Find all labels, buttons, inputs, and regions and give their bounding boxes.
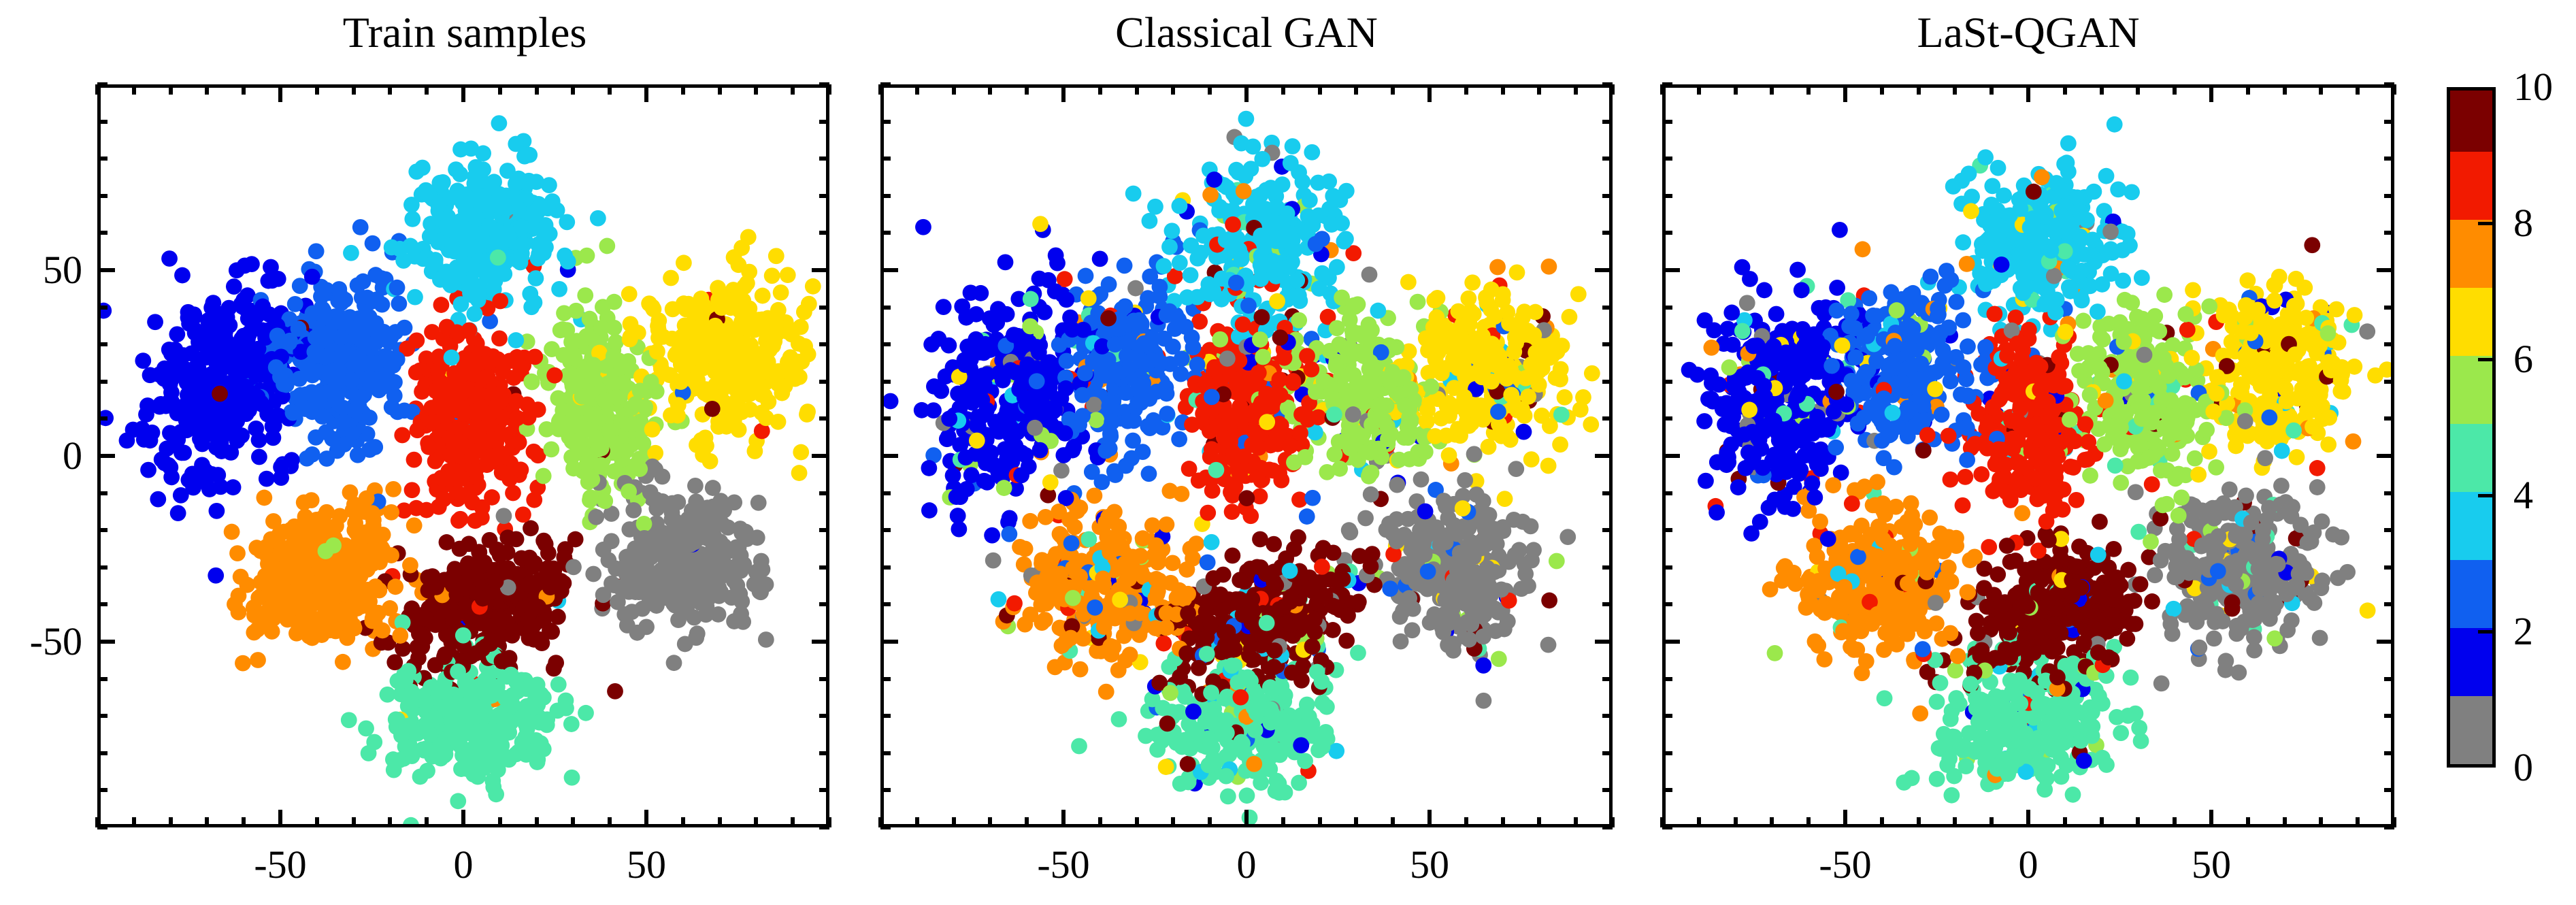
x-axis-tick [644,84,648,102]
y-axis-tick [97,454,115,458]
x-axis-tick [1281,817,1285,827]
x-axis-tick [1843,84,1847,102]
y-axis-tick [1662,194,1672,198]
y-axis-tick [1662,788,1672,792]
x-axis-tick [718,817,722,827]
y-axis-tick [812,454,829,458]
y-axis-tick [819,416,829,421]
x-axis-tick [1953,817,1957,827]
y-axis-tick [97,268,115,272]
x-axis-tick [1464,84,1468,95]
y-axis-tick-label: 0 [0,436,82,476]
y-axis-tick [2384,751,2394,755]
y-axis-tick [819,528,829,532]
x-axis-tick [1171,84,1175,95]
x-axis-tick-label: 50 [2192,845,2231,885]
y-axis-tick [1662,82,1672,86]
x-axis-tick [1208,84,1212,95]
x-axis-tick [242,817,246,827]
x-axis-tick [1135,84,1139,95]
y-axis-tick [97,491,108,495]
x-axis-tick [1061,810,1066,827]
y-axis-tick [1602,342,1613,346]
x-axis-tick [2026,810,2030,827]
plot-area-train-samples [97,84,829,827]
x-axis-tick-label: 0 [1237,845,1257,885]
x-axis-tick [571,84,575,95]
x-axis-tick [461,810,465,827]
colorbar-band-2 [2450,559,2492,628]
y-axis-tick [2384,602,2394,606]
x-axis-tick [1061,84,1066,102]
x-axis-tick [2209,84,2213,102]
colorbar: 0246810 [2447,87,2576,768]
y-axis-tick [97,528,108,532]
y-axis-tick [1602,157,1613,161]
x-axis-tick [1171,817,1175,827]
y-axis-tick [2384,825,2394,829]
colorbar-band-5 [2450,355,2492,424]
colorbar-tick-label: 8 [2513,203,2533,243]
y-axis-tick [97,306,108,310]
y-axis-tick-label: -50 [0,622,82,661]
y-axis-tick [880,825,891,829]
x-axis-tick [1208,817,1212,827]
y-axis-tick [97,416,108,421]
x-axis-tick [169,84,173,95]
x-axis-tick [535,84,539,95]
y-axis-tick [819,380,829,384]
y-axis-tick [2384,342,2394,346]
y-axis-tick [1662,342,1672,346]
panel-train-samples: Train samples -50050500-50 [97,0,832,905]
y-axis-tick [1602,714,1613,718]
y-axis-tick [1662,268,1680,272]
x-axis-tick [1697,84,1701,95]
x-axis-tick [535,817,539,827]
x-axis-tick [1391,817,1395,827]
x-axis-tick [388,817,392,827]
y-axis-tick [1662,602,1672,606]
x-axis-tick [952,817,956,827]
y-axis-tick [97,157,108,161]
y-axis-tick [97,82,108,86]
y-axis-tick [2377,268,2394,272]
x-axis-tick [952,84,956,95]
colorbar-tick [2478,222,2496,225]
y-axis-tick [97,788,108,792]
x-axis-tick [388,84,392,95]
x-axis-tick [915,84,919,95]
x-axis-tick [915,817,919,827]
y-axis-tick [1602,491,1613,495]
colorbar-band-6 [2450,287,2492,356]
x-axis-tick [315,817,319,827]
x-axis-tick-label: 50 [1410,845,1449,885]
y-axis-tick [880,528,891,532]
y-axis-tick [2384,528,2394,532]
x-axis-tick [169,817,173,827]
x-axis-tick [1574,84,1578,95]
scatter-points-classical-gan [884,88,1609,824]
y-axis-tick [1602,565,1613,570]
y-axis-tick [880,416,891,421]
y-axis-tick [2384,157,2394,161]
x-axis-tick [1025,817,1029,827]
x-axis-tick [2100,84,2104,95]
y-axis-tick [2384,788,2394,792]
x-axis-tick [1098,84,1102,95]
x-axis-tick [1464,817,1468,827]
y-axis-tick [1662,528,1672,532]
x-axis-tick [425,817,429,827]
y-axis-tick [880,82,891,86]
y-axis-tick [1602,306,1613,310]
x-axis-tick [1391,84,1395,95]
x-axis-tick [242,84,246,95]
y-axis-tick [97,565,108,570]
y-axis-tick [97,194,108,198]
y-axis-tick [1602,82,1613,86]
y-axis-tick [819,306,829,310]
x-axis-tick [1917,817,1921,827]
colorbar-tick-label: 2 [2513,612,2533,651]
y-axis-tick [97,602,108,606]
x-axis-tick [1354,817,1358,827]
y-axis-tick [819,157,829,161]
x-axis-tick [2026,84,2030,102]
y-axis-tick [1662,157,1672,161]
y-axis-tick [1662,640,1680,644]
x-axis-tick [1537,84,1541,95]
x-axis-tick [352,84,356,95]
x-axis-tick [1501,817,1505,827]
x-axis-tick [1244,810,1249,827]
colorbar-band-1 [2450,627,2492,696]
y-axis-tick [1602,528,1613,532]
y-axis-tick [819,565,829,570]
x-axis-tick-label: 50 [627,845,666,885]
scatter-points-train-samples [101,88,826,824]
x-axis-tick [571,817,575,827]
y-axis-tick [97,825,108,829]
x-axis-tick [1427,810,1432,827]
x-axis-tick [988,84,992,95]
x-axis-tick [1989,84,1994,95]
y-axis-tick [97,231,108,235]
y-axis-tick [2384,82,2394,86]
y-axis-tick [1662,454,1680,458]
x-axis-tick [2246,84,2250,95]
x-axis-tick [1098,817,1102,827]
y-axis-tick [1595,268,1613,272]
x-axis-tick [2283,84,2287,95]
x-axis-tick [791,817,795,827]
x-axis-tick [1697,817,1701,827]
x-axis-tick [1880,84,1884,95]
x-axis-tick-label: 0 [454,845,474,885]
x-axis-tick [1806,84,1811,95]
x-axis-tick [352,817,356,827]
y-axis-tick [1602,788,1613,792]
x-axis-tick [1244,84,1249,102]
y-axis-tick [97,751,108,755]
y-axis-tick [2384,416,2394,421]
y-axis-tick [2384,380,2394,384]
y-axis-tick [2384,306,2394,310]
y-axis-tick [1602,416,1613,421]
x-axis-tick [1880,817,1884,827]
x-axis-tick [498,84,502,95]
plot-area-last-qgan [1662,84,2394,827]
y-axis-tick [1662,825,1672,829]
y-axis-tick [2377,640,2394,644]
x-axis-tick [278,84,282,102]
y-axis-tick [819,342,829,346]
y-axis-tick [1602,120,1613,124]
y-axis-tick [880,157,891,161]
y-axis-tick [1602,380,1613,384]
x-axis-tick [1427,84,1432,102]
y-axis-tick [880,491,891,495]
y-axis-tick [2384,491,2394,495]
y-axis-tick [97,120,108,124]
colorbar-band-4 [2450,423,2492,492]
y-axis-tick [819,231,829,235]
x-axis-tick [498,817,502,827]
x-axis-tick [132,84,136,95]
colorbar-band-9 [2450,87,2492,152]
x-axis-tick [1318,817,1322,827]
x-axis-tick [2283,817,2287,827]
y-axis-tick [2384,231,2394,235]
x-axis-tick [2173,817,2177,827]
x-axis-tick [1734,817,1738,827]
colorbar-tick [2478,630,2496,633]
y-axis-tick [819,788,829,792]
x-axis-tick [2063,817,2067,827]
y-axis-tick [2384,677,2394,681]
y-axis-tick [2384,120,2394,124]
x-axis-tick [315,84,319,95]
x-axis-tick [425,84,429,95]
x-axis-tick [1806,817,1811,827]
y-axis-tick [880,380,891,384]
y-axis-tick [880,268,898,272]
colorbar-tick-label: 4 [2513,476,2533,515]
y-axis-tick [2384,714,2394,718]
x-axis-tick [1917,84,1921,95]
x-axis-tick-label: -50 [1819,845,1871,885]
panel-last-qgan: LaSt-QGAN -50050 [1662,0,2394,905]
x-axis-tick [681,84,685,95]
x-axis-tick [608,817,612,827]
x-axis-tick [2319,817,2323,827]
y-axis-tick [97,677,108,681]
figure-root: Train samples -50050500-50 Classical GAN… [0,0,2576,905]
x-axis-tick [1734,84,1738,95]
y-axis-tick [880,120,891,124]
y-axis-tick [2384,565,2394,570]
x-axis-tick-label: 0 [2019,845,2038,885]
x-axis-tick [2063,84,2067,95]
x-axis-tick [2136,84,2140,95]
x-axis-tick [1953,84,1957,95]
panel-title-last-qgan: LaSt-QGAN [1662,11,2394,54]
x-axis-tick [754,84,758,95]
y-axis-tick [880,788,891,792]
x-axis-tick-label: -50 [1037,845,1089,885]
x-axis-tick [1025,84,1029,95]
y-axis-tick [97,380,108,384]
y-axis-tick [880,751,891,755]
y-axis-tick [819,825,829,829]
y-axis-tick [819,602,829,606]
y-axis-tick [880,602,891,606]
y-axis-tick [819,194,829,198]
colorbar-tick-label: 0 [2513,748,2533,787]
plot-area-classical-gan [880,84,1613,827]
y-axis-tick [1662,751,1672,755]
y-axis-tick [2384,194,2394,198]
y-axis-tick [819,491,829,495]
x-axis-tick [1135,817,1139,827]
x-axis-tick [2246,817,2250,827]
y-axis-tick [880,640,898,644]
y-axis-tick [1662,416,1672,421]
x-axis-tick [1770,84,1774,95]
y-axis-tick [812,640,829,644]
colorbar-band-7 [2450,219,2492,288]
colorbar-tick-label: 6 [2513,340,2533,379]
x-axis-tick [2136,817,2140,827]
x-axis-tick [1574,817,1578,827]
colorbar-band-8 [2450,151,2492,220]
y-axis-tick [1602,231,1613,235]
y-axis-tick [880,454,898,458]
y-axis-tick [812,268,829,272]
x-axis-tick [1989,817,1994,827]
y-axis-tick [880,714,891,718]
y-axis-tick [97,342,108,346]
y-axis-tick [880,231,891,235]
x-axis-tick [791,84,795,95]
y-axis-tick [97,640,115,644]
y-axis-tick-label: 50 [0,250,82,290]
y-axis-tick [819,751,829,755]
x-axis-tick [1537,817,1541,827]
y-axis-tick [1662,380,1672,384]
x-axis-tick [681,817,685,827]
colorbar-band-0 [2450,695,2492,764]
x-axis-tick [2209,810,2213,827]
x-axis-tick [718,84,722,95]
y-axis-tick [1662,565,1672,570]
y-axis-tick [1602,194,1613,198]
panel-title-classical-gan: Classical GAN [880,11,1613,54]
y-axis-tick [880,306,891,310]
colorbar-tick [2478,358,2496,361]
y-axis-tick [1602,677,1613,681]
x-axis-tick [2100,817,2104,827]
x-axis-tick [608,84,612,95]
y-axis-tick [1602,751,1613,755]
y-axis-tick [97,714,108,718]
x-axis-tick [461,84,465,102]
x-axis-tick-label: -50 [254,845,306,885]
colorbar-tick [2478,494,2496,497]
x-axis-tick [205,84,209,95]
y-axis-tick [1662,491,1672,495]
colorbar-band-3 [2450,491,2492,560]
x-axis-tick [205,817,209,827]
y-axis-tick [1602,602,1613,606]
x-axis-tick [278,810,282,827]
panel-classical-gan: Classical GAN -50050 [880,0,1613,905]
y-axis-tick [2377,454,2394,458]
x-axis-tick [1318,84,1322,95]
y-axis-tick [1662,677,1672,681]
x-axis-tick [132,817,136,827]
x-axis-tick [988,817,992,827]
x-axis-tick [2319,84,2323,95]
x-axis-tick [1770,817,1774,827]
x-axis-tick [1501,84,1505,95]
x-axis-tick [1281,84,1285,95]
x-axis-tick [2173,84,2177,95]
x-axis-tick [754,817,758,827]
y-axis-tick [1602,825,1613,829]
y-axis-tick [1662,306,1672,310]
y-axis-tick [819,82,829,86]
colorbar-gradient [2447,87,2496,768]
y-axis-tick [819,120,829,124]
x-axis-tick [2356,84,2360,95]
y-axis-tick [880,565,891,570]
y-axis-tick [880,342,891,346]
colorbar-tick-label: 10 [2513,67,2553,107]
y-axis-tick [1662,714,1672,718]
y-axis-tick [819,677,829,681]
y-axis-tick [1595,454,1613,458]
x-axis-tick [1354,84,1358,95]
scatter-points-last-qgan [1666,88,2391,824]
y-axis-tick [880,194,891,198]
y-axis-tick [819,714,829,718]
y-axis-tick [1662,231,1672,235]
x-axis-tick [644,810,648,827]
y-axis-tick [880,677,891,681]
y-axis-tick [1662,120,1672,124]
y-axis-tick [1595,640,1613,644]
x-axis-tick [1843,810,1847,827]
panel-title-train-samples: Train samples [97,11,832,54]
x-axis-tick [2356,817,2360,827]
